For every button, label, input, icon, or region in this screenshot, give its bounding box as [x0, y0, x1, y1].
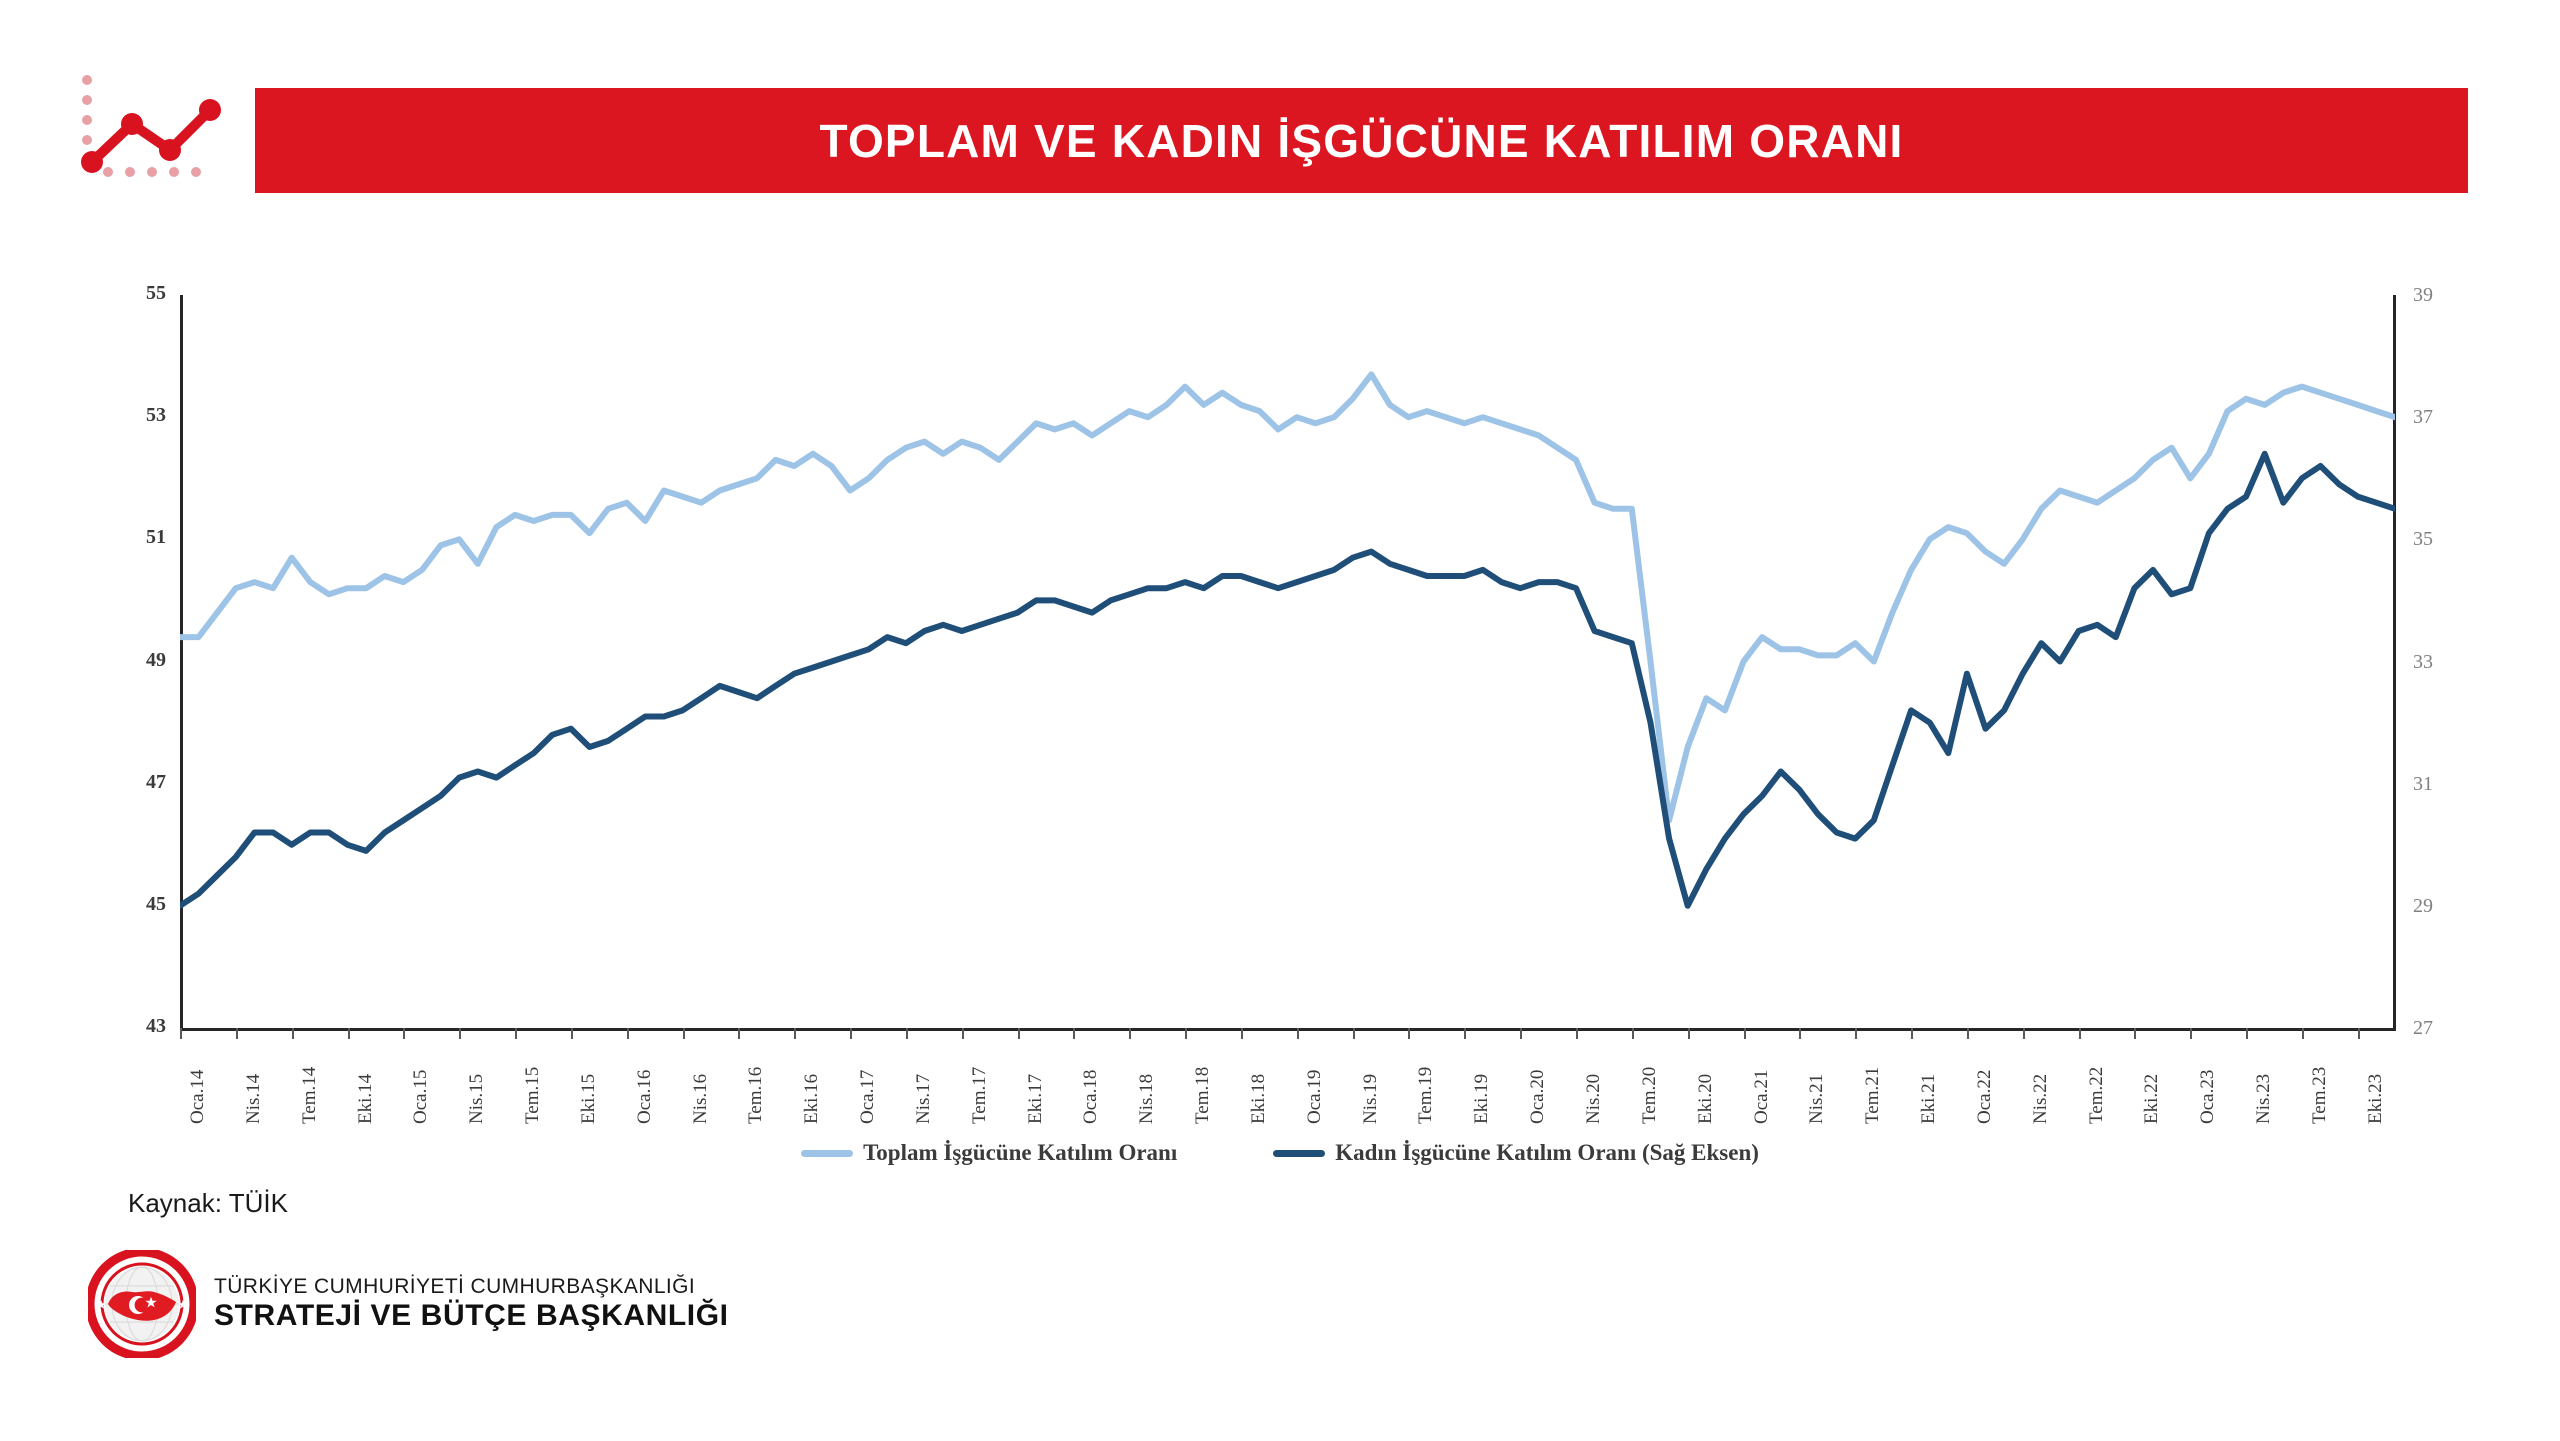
x-axis-tick-label: Eki.20 — [1695, 1074, 1717, 1124]
series-line-toplam — [180, 374, 2395, 820]
x-axis-tick — [906, 1028, 908, 1039]
x-axis-tick — [348, 1028, 350, 1039]
x-axis-tick — [1185, 1028, 1187, 1039]
x-axis-tick-label: Tem.18 — [1192, 1067, 1214, 1124]
chart-container: 43454749515355 27293133353739 Oca.14Nis.… — [0, 210, 2560, 1110]
x-axis-tick — [1967, 1028, 1969, 1039]
x-axis-tick — [1241, 1028, 1243, 1039]
x-axis-tick — [1018, 1028, 1020, 1039]
x-axis-tick — [292, 1028, 294, 1039]
x-axis-tick — [2134, 1028, 2136, 1039]
y-axis-left-tick-47: 47 — [120, 771, 166, 794]
x-axis-tick — [2246, 1028, 2248, 1039]
legend-label-toplam: Toplam İşgücüne Katılım Oranı — [863, 1140, 1177, 1166]
x-axis-tick-label: Tem.17 — [969, 1067, 991, 1124]
y-axis-left-tick-51: 51 — [120, 526, 166, 549]
x-axis-tick-label: Oca.15 — [410, 1070, 432, 1124]
x-axis-tick-label: Tem.21 — [1862, 1067, 1884, 1124]
x-axis-tick — [627, 1028, 629, 1039]
y-axis-left-tick-53: 53 — [120, 404, 166, 427]
x-axis-tick-label: Eki.23 — [2365, 1074, 2387, 1124]
x-axis-tick-label: Oca.21 — [1751, 1070, 1773, 1124]
x-axis-tick — [2190, 1028, 2192, 1039]
x-axis-tick — [962, 1028, 964, 1039]
x-axis-tick-label: Tem.22 — [2086, 1067, 2108, 1124]
x-axis-tick-label: Eki.19 — [1471, 1074, 1493, 1124]
y-axis-left-tick-49: 49 — [120, 649, 166, 672]
x-axis-tick — [850, 1028, 852, 1039]
x-axis-tick — [2302, 1028, 2304, 1039]
x-axis-tick-label: Eki.22 — [2141, 1074, 2163, 1124]
x-axis-tick-label: Nis.17 — [913, 1074, 935, 1124]
x-axis-tick — [1520, 1028, 1522, 1039]
x-axis-tick — [738, 1028, 740, 1039]
x-axis-tick — [515, 1028, 517, 1039]
x-axis-tick — [459, 1028, 461, 1039]
x-axis-tick — [1297, 1028, 1299, 1039]
x-axis-tick-label: Oca.18 — [1080, 1070, 1102, 1124]
x-axis-tick-label: Nis.20 — [1583, 1074, 1605, 1124]
x-axis-tick-label: Eki.18 — [1248, 1074, 1270, 1124]
x-axis-tick-label: Tem.15 — [522, 1067, 544, 1124]
x-axis-tick-label: Nis.21 — [1806, 1074, 1828, 1124]
x-axis-tick-label: Tem.20 — [1639, 1067, 1661, 1124]
x-axis-tick-label: Eki.17 — [1025, 1074, 1047, 1124]
y-axis-right-tick-31: 31 — [2413, 773, 2433, 796]
x-axis-tick-label: Eki.15 — [578, 1074, 600, 1124]
x-axis-tick-label: Nis.16 — [690, 1074, 712, 1124]
x-axis-tick-label: Tem.14 — [299, 1067, 321, 1124]
x-axis-tick-label: Nis.19 — [1360, 1074, 1382, 1124]
x-axis-tick-label: Tem.23 — [2309, 1067, 2331, 1124]
x-axis-tick — [403, 1028, 405, 1039]
line-chart-logo-icon — [70, 62, 230, 192]
source-note: Kaynak: TÜİK — [128, 1188, 288, 1219]
x-axis-tick — [1744, 1028, 1746, 1039]
legend-swatch-toplam — [801, 1150, 853, 1157]
y-axis-right-tick-29: 29 — [2413, 895, 2433, 918]
x-axis-tick — [1799, 1028, 1801, 1039]
x-axis-tick-label: Nis.22 — [2030, 1074, 2052, 1124]
x-axis-tick — [2358, 1028, 2360, 1039]
page-title: TOPLAM VE KADIN İŞGÜCÜNE KATILIM ORANI — [819, 114, 1903, 168]
x-axis-tick — [1688, 1028, 1690, 1039]
x-axis-tick-label: Nis.18 — [1136, 1074, 1158, 1124]
header-bar: TOPLAM VE KADIN İŞGÜCÜNE KATILIM ORANI — [255, 88, 2468, 193]
legend-label-kadin: Kadın İşgücüne Katılım Oranı (Sağ Eksen) — [1335, 1140, 1759, 1166]
x-axis-tick-label: Oca.22 — [1974, 1070, 1996, 1124]
x-axis-line — [180, 1028, 2396, 1031]
x-axis-tick-label: Oca.16 — [634, 1070, 656, 1124]
org-name-line-1: TÜRKİYE CUMHURİYETİ CUMHURBAŞKANLIĞI — [214, 1275, 729, 1299]
x-axis-tick — [1129, 1028, 1131, 1039]
x-axis-tick-label: Tem.16 — [745, 1067, 767, 1124]
x-axis-tick — [571, 1028, 573, 1039]
x-axis-tick-label: Oca.14 — [187, 1070, 209, 1124]
x-axis-tick-label: Oca.19 — [1304, 1070, 1326, 1124]
y-axis-left-tick-45: 45 — [120, 893, 166, 916]
x-axis-tick — [1576, 1028, 1578, 1039]
x-axis-tick — [1408, 1028, 1410, 1039]
y-axis-left-tick-43: 43 — [120, 1015, 166, 1038]
x-axis-tick-label: Nis.15 — [466, 1074, 488, 1124]
republic-of-turkiye-seal-icon — [88, 1250, 196, 1358]
x-axis-tick — [683, 1028, 685, 1039]
x-axis-tick — [2079, 1028, 2081, 1039]
plot-lines — [180, 295, 2395, 1028]
legend-item-kadin: Kadın İşgücüne Katılım Oranı (Sağ Eksen) — [1273, 1140, 1759, 1166]
y-axis-right-tick-35: 35 — [2413, 528, 2433, 551]
x-axis-tick — [1073, 1028, 1075, 1039]
x-axis-tick-label: Oca.23 — [2197, 1070, 2219, 1124]
x-axis-tick — [1464, 1028, 1466, 1039]
y-axis-right-tick-33: 33 — [2413, 651, 2433, 674]
y-axis-right-tick-37: 37 — [2413, 406, 2433, 429]
organization-footer: TÜRKİYE CUMHURİYETİ CUMHURBAŞKANLIĞI STR… — [88, 1250, 729, 1358]
x-axis-tick-label: Tem.19 — [1415, 1067, 1437, 1124]
y-axis-right-tick-27: 27 — [2413, 1017, 2433, 1040]
org-name-line-2: STRATEJİ VE BÜTÇE BAŞKANLIĞI — [214, 1299, 729, 1333]
x-axis-tick-label: Eki.16 — [801, 1074, 823, 1124]
x-axis-tick-label: Eki.21 — [1918, 1074, 1940, 1124]
x-axis-tick-label: Nis.14 — [243, 1074, 265, 1124]
y-axis-right-tick-39: 39 — [2413, 284, 2433, 307]
x-axis-tick-label: Oca.20 — [1527, 1070, 1549, 1124]
x-axis-tick-label: Nis.23 — [2253, 1074, 2275, 1124]
x-axis-tick — [2023, 1028, 2025, 1039]
legend-swatch-kadin — [1273, 1150, 1325, 1157]
x-axis-tick — [180, 1028, 182, 1039]
x-axis-tick — [1911, 1028, 1913, 1039]
x-axis-tick — [794, 1028, 796, 1039]
legend-item-toplam: Toplam İşgücüne Katılım Oranı — [801, 1140, 1177, 1166]
x-axis-tick-label: Oca.17 — [857, 1070, 879, 1124]
x-axis-tick — [236, 1028, 238, 1039]
x-axis-tick — [1855, 1028, 1857, 1039]
x-axis-tick — [1353, 1028, 1355, 1039]
x-axis-tick — [1632, 1028, 1634, 1039]
series-line-kadin — [180, 454, 2395, 906]
chart-legend: Toplam İşgücüne Katılım Oranı Kadın İşgü… — [0, 1140, 2560, 1166]
x-axis-tick-label: Eki.14 — [355, 1074, 377, 1124]
y-axis-left-tick-55: 55 — [120, 282, 166, 305]
